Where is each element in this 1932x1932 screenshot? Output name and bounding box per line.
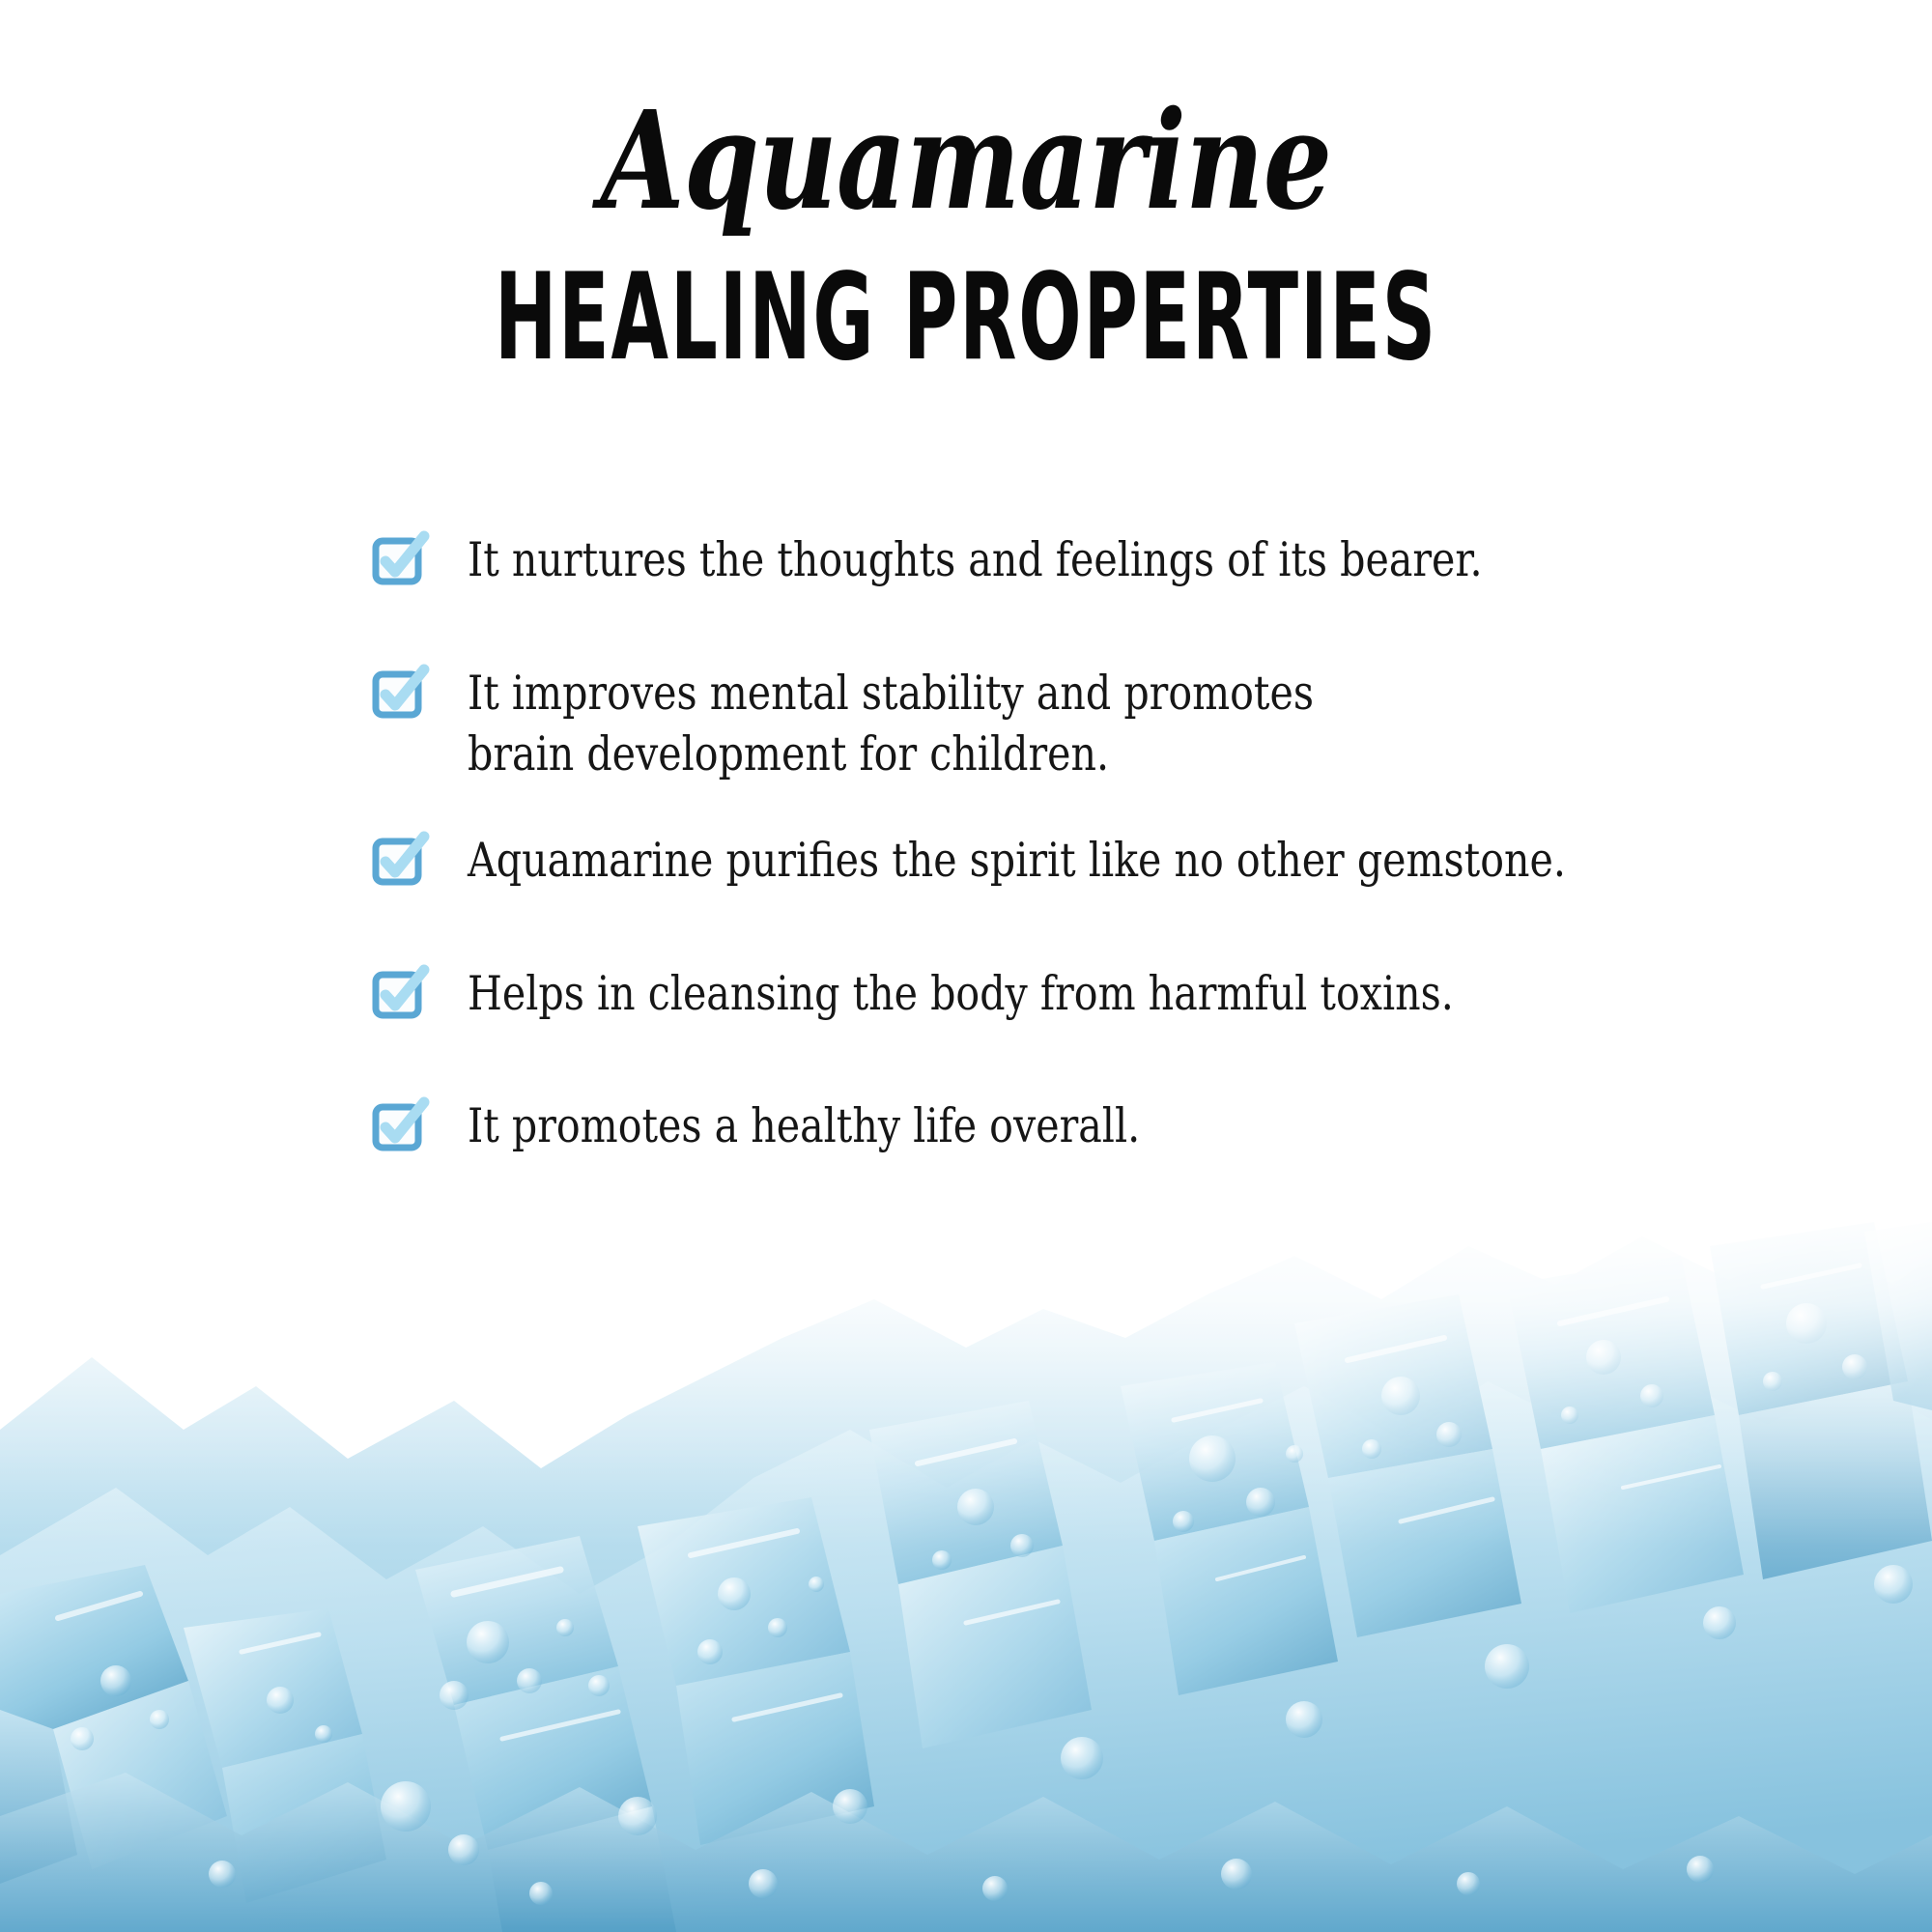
list-item: Aquamarine purifies the spirit like no o…: [373, 830, 1880, 892]
checked-checkbox-icon: [373, 668, 427, 719]
list-item-label: It nurtures the thoughts and feelings of…: [468, 529, 1483, 591]
ice-cubes-photo: [0, 1140, 1932, 1932]
list-item-label: Helps in cleansing the body from harmful…: [468, 963, 1454, 1025]
list-item: Helps in cleansing the body from harmful…: [373, 963, 1880, 1025]
list-item-label: Aquamarine purifies the spirit like no o…: [468, 830, 1566, 892]
healing-properties-list: It nurtures the thoughts and feelings of…: [373, 529, 1880, 1157]
list-item-label: It promotes a healthy life overall.: [468, 1095, 1140, 1157]
list-item-label: It improves mental stability and promote…: [468, 663, 1314, 785]
checked-checkbox-icon: [373, 836, 427, 886]
list-item: It improves mental stability and promote…: [373, 663, 1880, 785]
list-item: It nurtures the thoughts and feelings of…: [373, 529, 1880, 591]
list-item: It promotes a healthy life overall.: [373, 1095, 1880, 1157]
checked-checkbox-icon: [373, 1101, 427, 1151]
page-subtitle: HEALING PROPERTIES: [367, 258, 1565, 378]
header-block: Aquamarine HEALING PROPERTIES: [0, 93, 1932, 378]
checked-checkbox-icon: [373, 969, 427, 1019]
page-title: Aquamarine: [193, 93, 1739, 231]
checked-checkbox-icon: [373, 535, 427, 585]
poster-canvas: Aquamarine HEALING PROPERTIES It nurture…: [0, 0, 1932, 1932]
